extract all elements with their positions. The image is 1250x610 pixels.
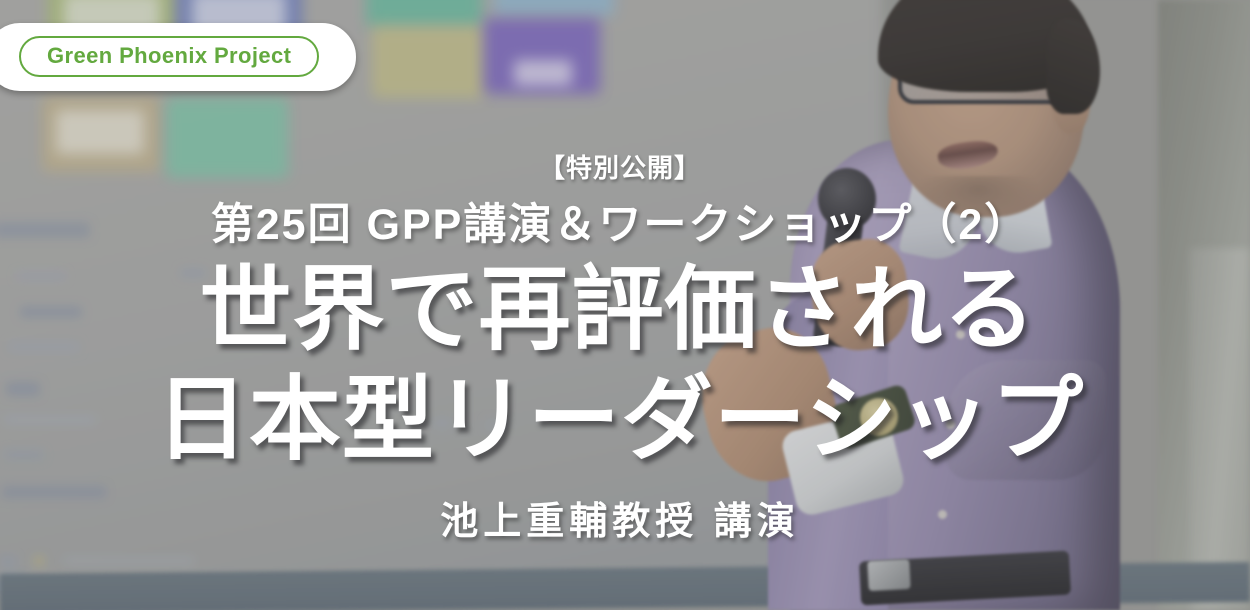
screen-text-line [64, 558, 194, 564]
belt-buckle [867, 559, 911, 591]
screen-text-line [0, 556, 16, 568]
screen-text-line [34, 556, 44, 566]
headline-line-2: 日本型リーダーシップ [0, 374, 1245, 466]
eyebrow-label: 【特別公開】 [0, 148, 1245, 185]
headline-line-1: 世界で再評価される [0, 264, 1243, 356]
slide-thumb-yellow [372, 26, 484, 98]
slide-thumb-sky [494, 0, 614, 16]
project-badge-inner-ring: Green Phoenix Project [19, 36, 319, 77]
project-badge-label: Green Phoenix Project [47, 45, 291, 67]
slide-thumb-teal [366, 0, 482, 26]
hero-banner: Green Phoenix Project 【特別公開】 第25回 GPP講演＆… [0, 0, 1250, 610]
session-title: 第25回 GPP講演＆ワークショップ（2） [0, 190, 1245, 252]
speaker-hair-side [1046, 18, 1100, 114]
slide-thumb-purple-inner [514, 60, 572, 86]
project-badge[interactable]: Green Phoenix Project [0, 23, 356, 91]
speaker-byline: 池上重輔教授 講演 [0, 490, 1245, 545]
